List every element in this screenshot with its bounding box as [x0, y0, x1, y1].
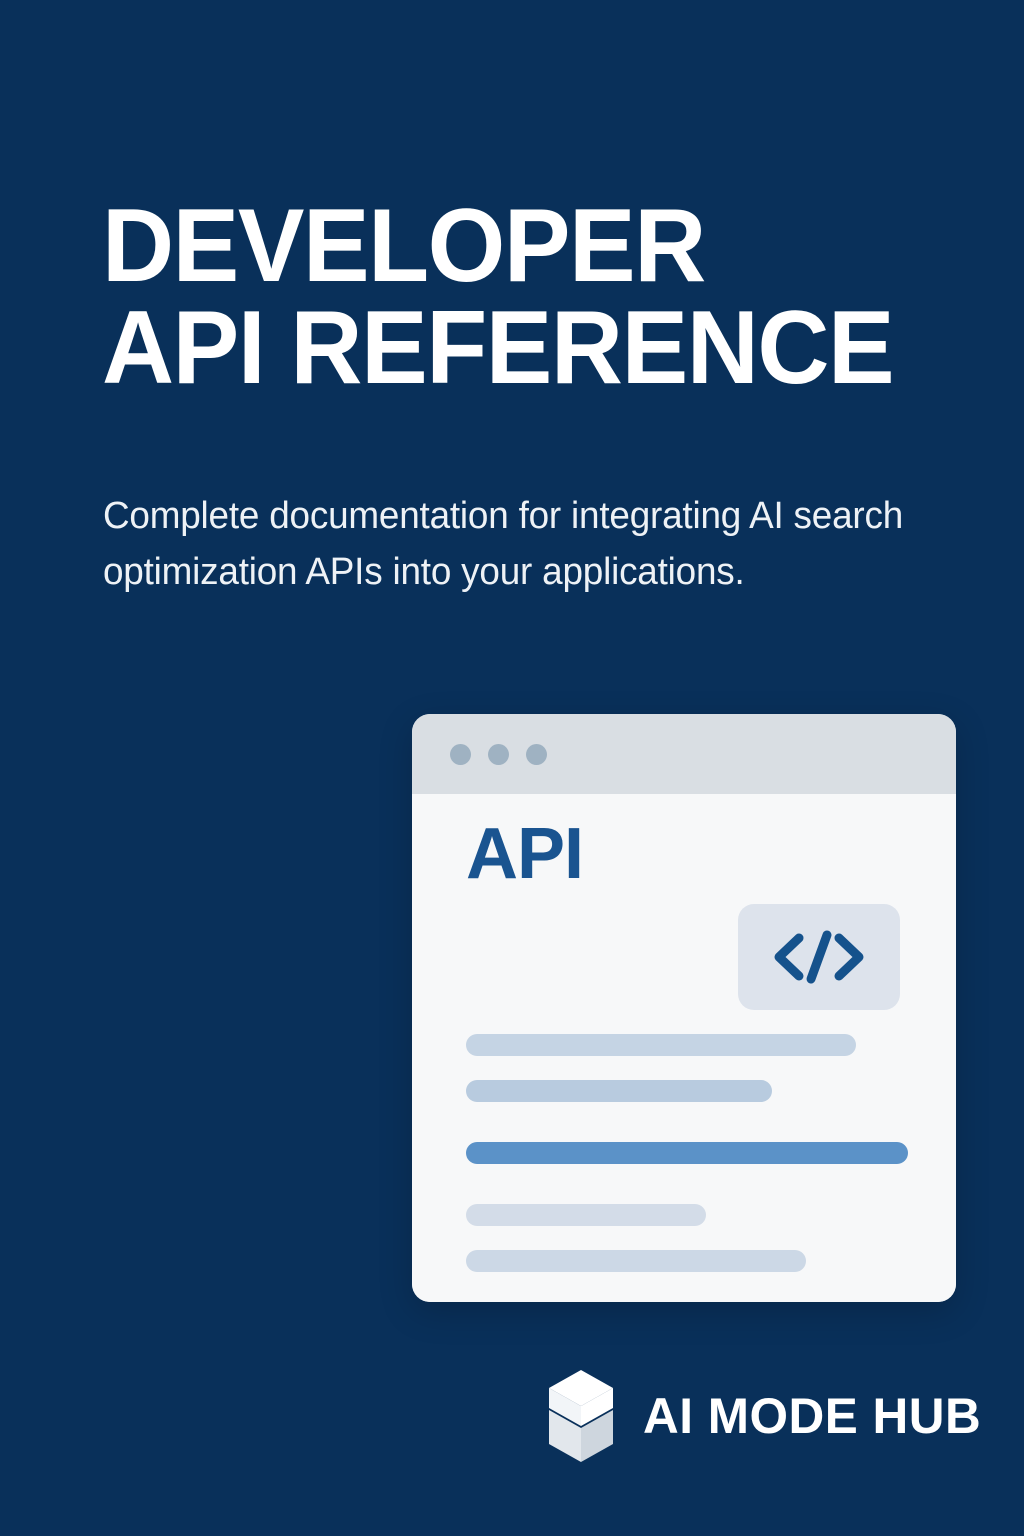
brand-logo-lockup: AI MODE HUB [545, 1368, 985, 1464]
headline-line-2: API REFERENCE [102, 298, 947, 400]
content-bar-5 [466, 1250, 806, 1272]
poster-canvas: DEVELOPER API REFERENCE Complete documen… [0, 0, 1024, 1536]
browser-content-area: API [412, 794, 956, 1302]
page-subtitle: Complete documentation for integrating A… [103, 488, 928, 600]
code-brackets-icon [738, 904, 900, 1010]
headline-line-1: DEVELOPER [102, 196, 947, 298]
browser-window-mockup: API [412, 714, 956, 1302]
cube-logo-icon [545, 1368, 617, 1464]
content-bar-highlight [466, 1142, 908, 1164]
window-dot-2 [488, 744, 509, 765]
browser-titlebar [412, 714, 956, 794]
page-title: DEVELOPER API REFERENCE [102, 196, 982, 400]
content-bar-2 [466, 1080, 772, 1102]
brand-name: AI MODE HUB [643, 1387, 981, 1445]
window-dot-1 [450, 744, 471, 765]
window-dot-3 [526, 744, 547, 765]
content-bar-1 [466, 1034, 856, 1056]
api-heading: API [466, 818, 583, 890]
content-bar-4 [466, 1204, 706, 1226]
